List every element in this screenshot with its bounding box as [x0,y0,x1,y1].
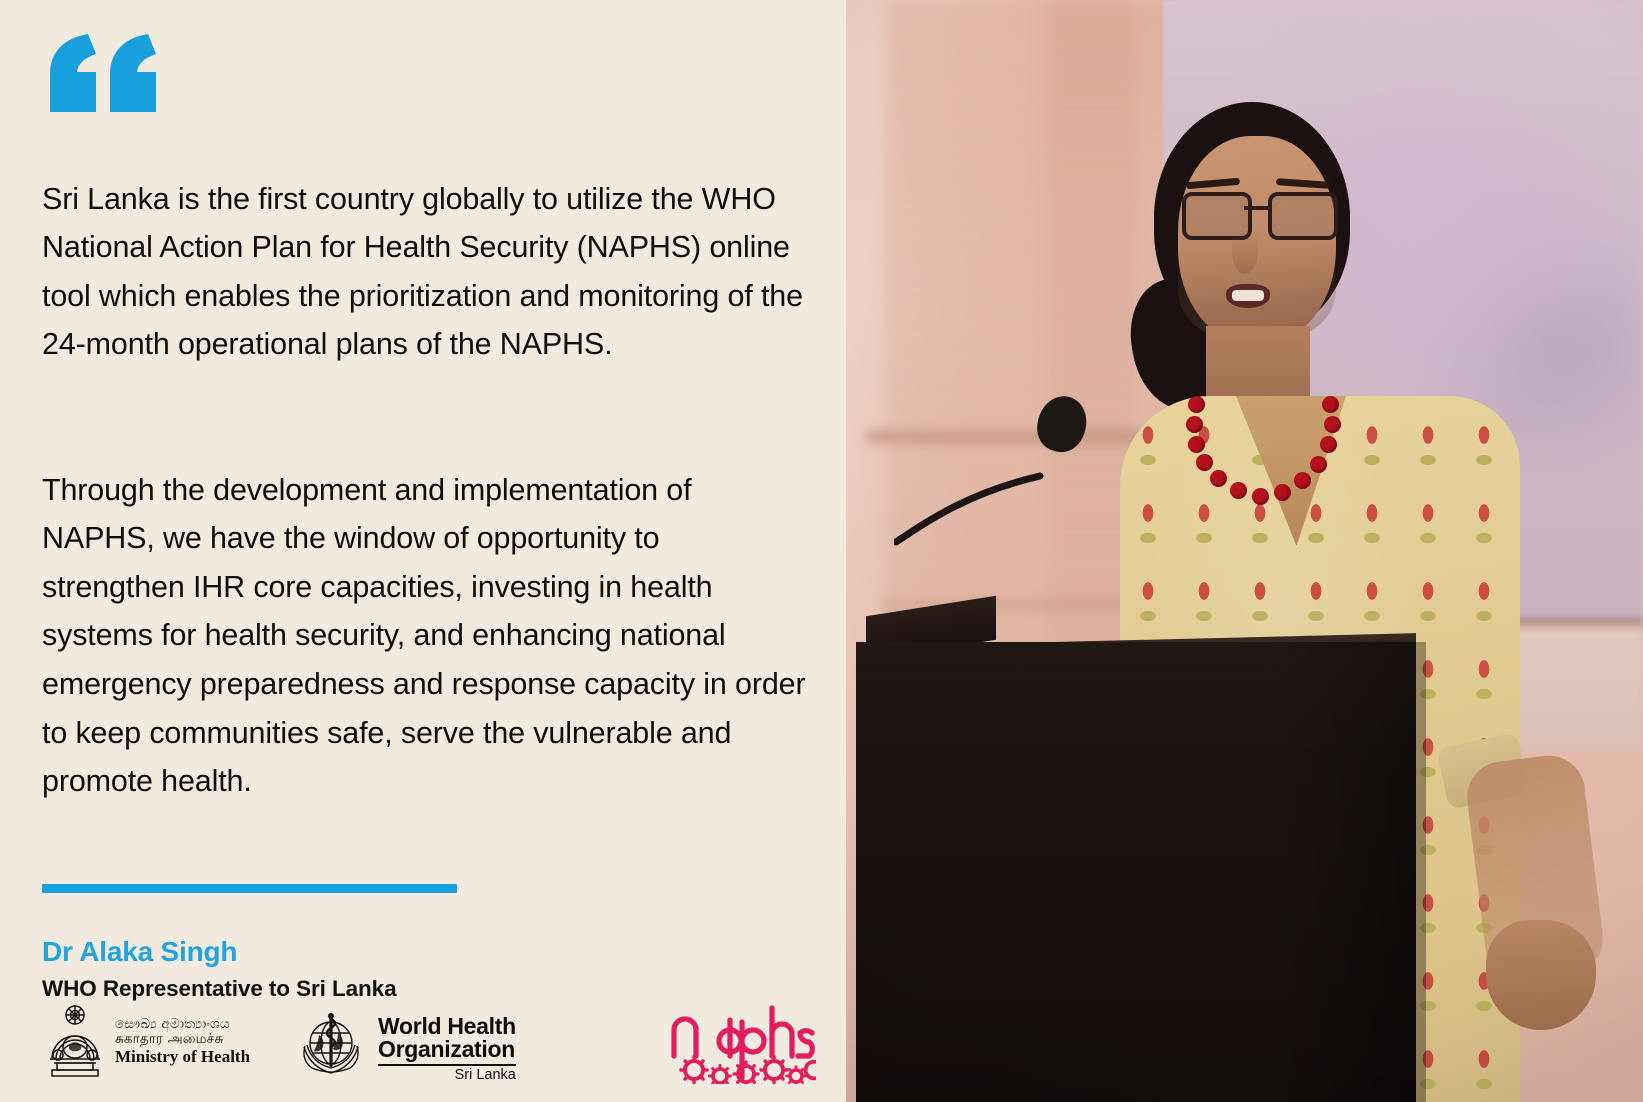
lens-right [1268,192,1338,240]
quote-panel: Sri Lanka is the first country globally … [0,0,846,1102]
naphs-logo [666,1000,816,1084]
who-logo: World Health Organization Sri Lanka [294,1013,516,1084]
who-country: Sri Lanka [378,1068,516,1083]
who-text: World Health Organization Sri Lanka [378,1015,516,1083]
quotation-mark-icon [44,34,806,112]
who-rule [378,1064,516,1066]
glasses-bridge [1244,206,1268,210]
quote-paragraph-2: Through the development and implementati… [42,466,806,806]
red-bead-necklace [1184,392,1340,502]
microphone-gooseneck [894,468,1054,540]
naphs-gears-icon [666,1000,816,1084]
quote-text: Sri Lanka is the first country globally … [42,126,806,854]
moh-english: Ministry of Health [115,1048,250,1066]
logo-row: සෞඛ්‍ය අමාත්‍යාංශය சுகாதார அமைச்சு Minis… [44,988,816,1084]
nose [1232,230,1258,274]
moh-sinhala: සෞඛ්‍ය අමාත්‍යාංශය [115,1017,250,1032]
accent-divider [42,884,457,893]
who-line-1: World Health [378,1015,516,1038]
speaker-at-podium-photo [846,0,1643,1102]
hand [1486,920,1596,1030]
who-emblem-icon [294,1013,368,1084]
eyeglasses [1182,192,1338,232]
speaker-name: Dr Alaka Singh [42,935,806,969]
sri-lanka-national-emblem-icon [44,999,106,1084]
quote-paragraph-1: Sri Lanka is the first country globally … [42,175,806,369]
podium-shadow [1276,642,1426,1102]
quote-card: Sri Lanka is the first country globally … [0,0,1643,1102]
ministry-of-health-logo: සෞඛ්‍ය අමාත්‍යාංශය சுகாதார அமைச்சு Minis… [44,999,250,1084]
teeth [1232,290,1264,301]
ministry-of-health-text: සෞඛ්‍ය අමාත්‍යාංශය சுகாதார அமைச்சு Minis… [115,1017,250,1067]
who-line-2: Organization [378,1038,516,1061]
moh-tamil: சுகாதார அமைச்சு [115,1032,250,1047]
